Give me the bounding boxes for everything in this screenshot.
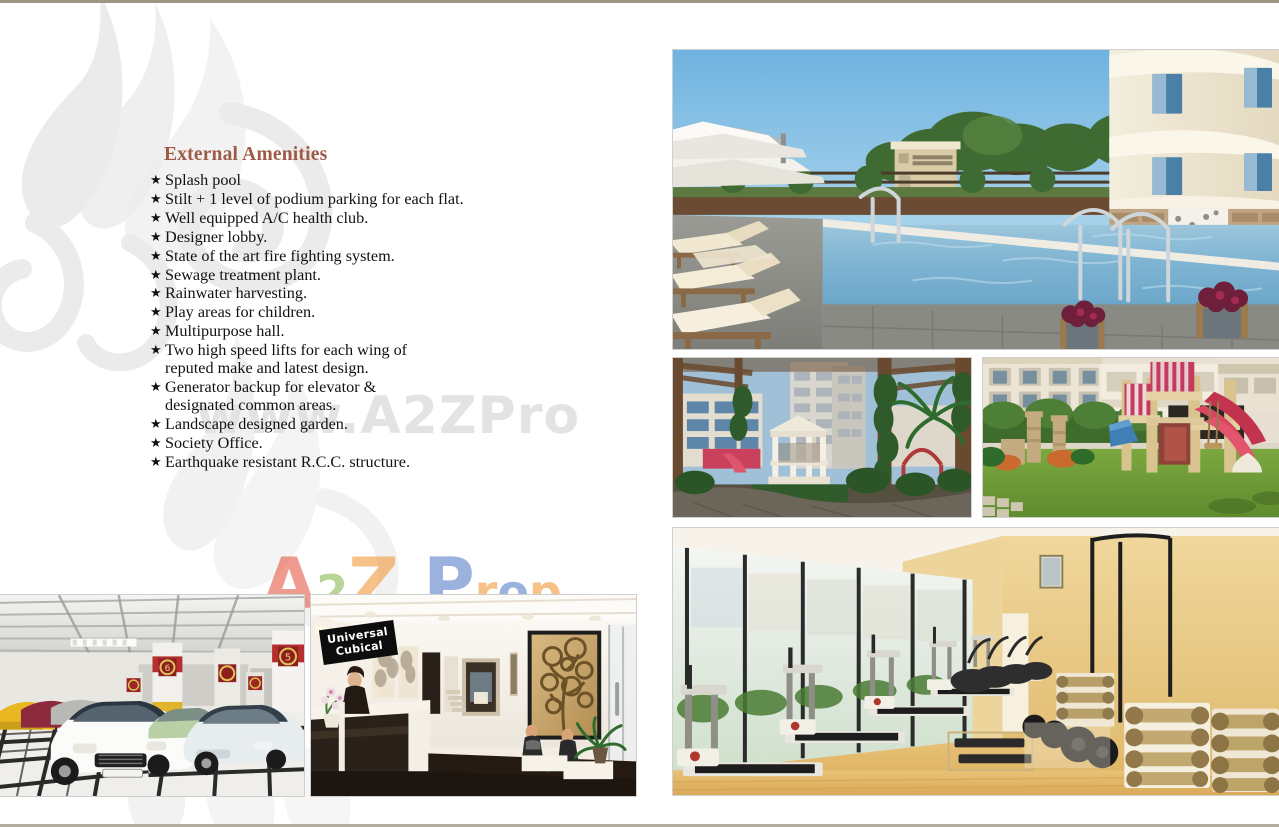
list-item-label: Generator backup for elevator & designat… [165, 378, 376, 414]
list-item-label: Two high speed lifts for each wing of re… [165, 341, 407, 377]
star-bullet-icon: ★ [150, 190, 162, 208]
list-item: ★Designer lobby. [150, 229, 570, 247]
list-item: ★Earthquake resistant R.C.C. structure. [150, 454, 570, 472]
list-item: ★Splash pool [150, 172, 570, 190]
photo-designer-lobby: Universal Cubical [310, 594, 637, 797]
list-item-label: Landscape designed garden. [165, 415, 348, 433]
list-item: ★Stilt + 1 level of podium parking for e… [150, 191, 570, 209]
svg-text:6: 6 [165, 664, 171, 674]
list-item: ★Generator backup for elevator & designa… [150, 379, 570, 415]
photo-health-club [672, 527, 1279, 796]
list-item-label: Earthquake resistant R.C.C. structure. [165, 453, 410, 471]
list-item-label: Multipurpose hall. [165, 322, 285, 340]
list-item: ★Landscape designed garden. [150, 416, 570, 434]
star-bullet-icon: ★ [150, 453, 162, 471]
list-item-label: Stilt + 1 level of podium parking for ea… [165, 190, 464, 208]
star-bullet-icon: ★ [150, 303, 162, 321]
parking-scene: 6 5 [0, 595, 304, 796]
list-item: ★Rainwater harvesting. [150, 285, 570, 303]
star-bullet-icon: ★ [150, 209, 162, 227]
star-bullet-icon: ★ [150, 247, 162, 265]
list-item-label: Rainwater harvesting. [165, 284, 307, 302]
garden-scene [673, 358, 971, 517]
amenities-list: ★Splash pool ★Stilt + 1 level of podium … [150, 172, 570, 472]
external-amenities-block: External Amenities ★Splash pool ★Stilt +… [150, 144, 570, 473]
list-item-label: Designer lobby. [165, 228, 267, 246]
list-item: ★Sewage treatment plant. [150, 267, 570, 285]
star-bullet-icon: ★ [150, 266, 162, 284]
list-item-label: State of the art fire fighting system. [165, 247, 395, 265]
list-item: ★Two high speed lifts for each wing of r… [150, 342, 570, 378]
star-bullet-icon: ★ [150, 322, 162, 340]
star-bullet-icon: ★ [150, 228, 162, 246]
list-item-label: Splash pool [165, 171, 241, 189]
star-bullet-icon: ★ [150, 378, 162, 396]
page-title: External Amenities [164, 144, 570, 166]
photo-podium-parking: 6 5 [0, 594, 305, 797]
list-item: ★State of the art fire fighting system. [150, 248, 570, 266]
svg-text:5: 5 [285, 652, 291, 663]
gym-scene [673, 528, 1279, 795]
list-item-label: Play areas for children. [165, 303, 315, 321]
list-item-label: Well equipped A/C health club. [165, 209, 368, 227]
star-bullet-icon: ★ [150, 171, 162, 189]
brochure-page: www.A2ZPro A2Z Prop External Amenities ★… [0, 0, 1279, 827]
list-item: ★Play areas for children. [150, 304, 570, 322]
list-item-label: Society Office. [165, 434, 263, 452]
list-item: ★Multipurpose hall. [150, 323, 570, 341]
star-bullet-icon: ★ [150, 341, 162, 359]
pool-scene [673, 50, 1279, 349]
star-bullet-icon: ★ [150, 284, 162, 302]
play-area-scene [983, 358, 1279, 517]
photo-landscape-garden [672, 357, 972, 518]
photo-play-area [982, 357, 1279, 518]
list-item: ★Well equipped A/C health club. [150, 210, 570, 228]
list-item: ★Society Office. [150, 435, 570, 453]
list-item-label: Sewage treatment plant. [165, 266, 321, 284]
photo-splash-pool [672, 49, 1279, 350]
star-bullet-icon: ★ [150, 434, 162, 452]
star-bullet-icon: ★ [150, 415, 162, 433]
